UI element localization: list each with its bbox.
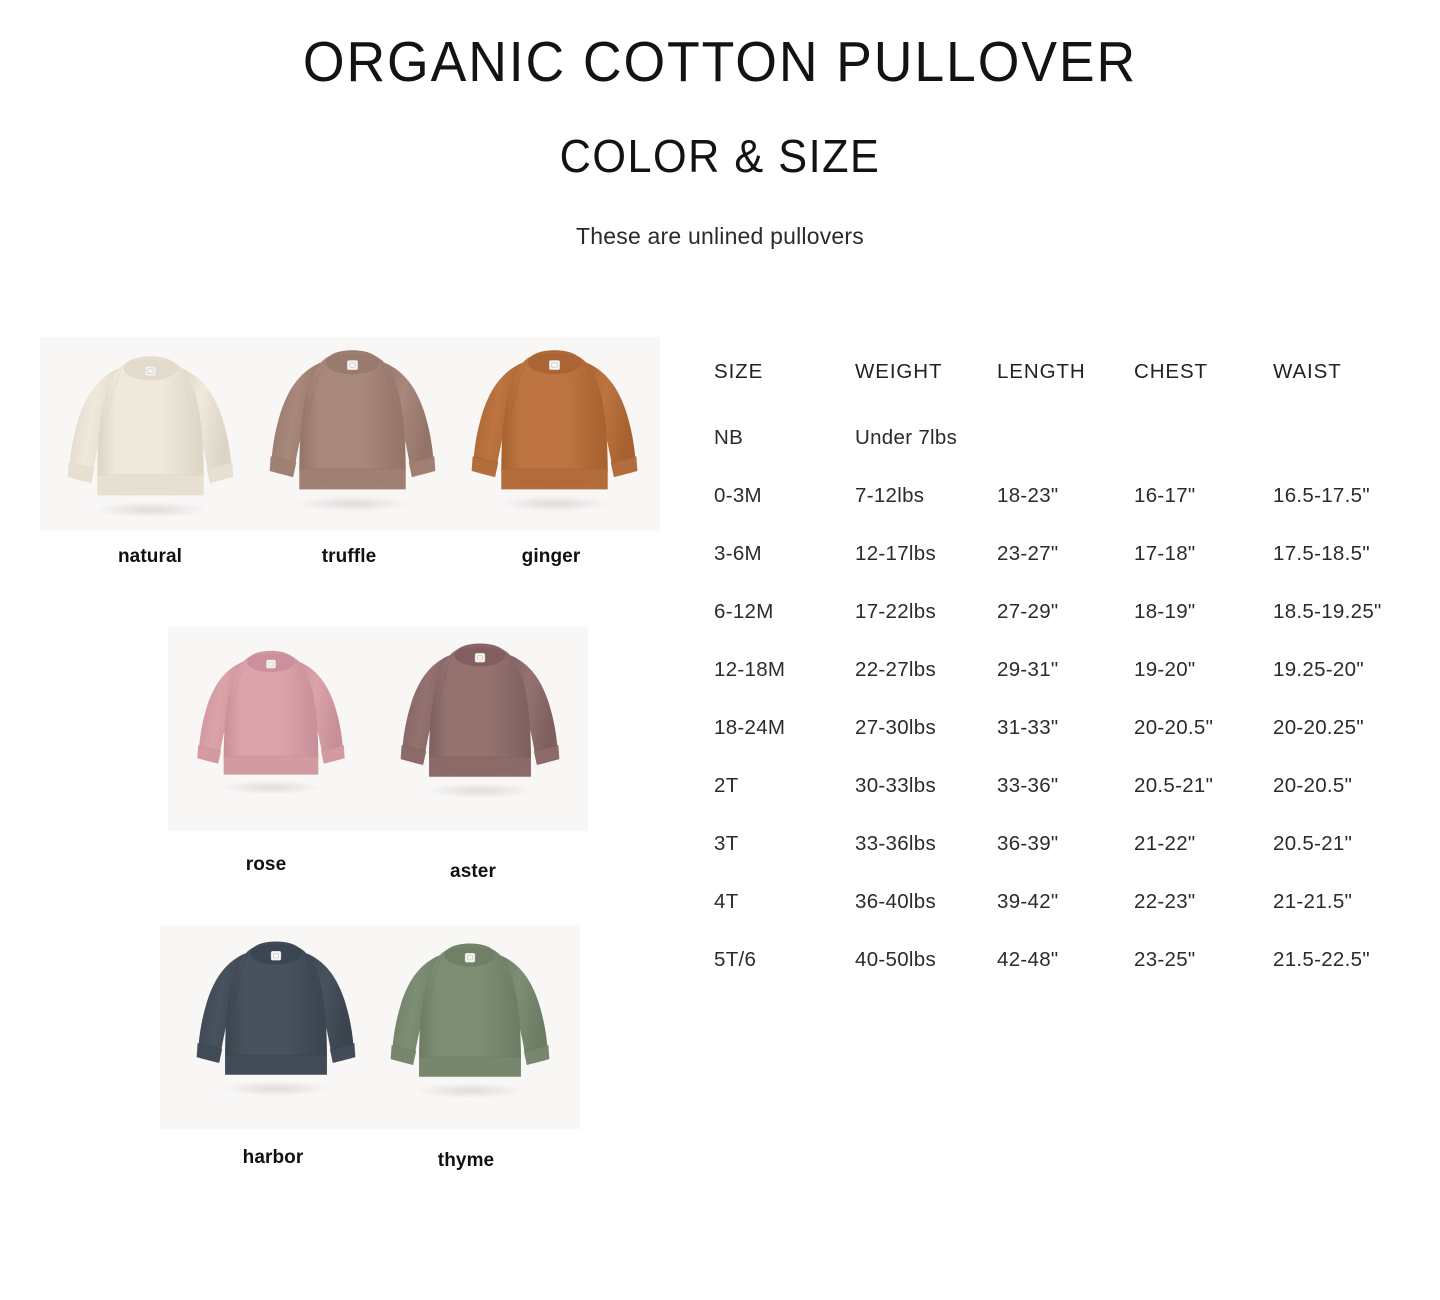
pullover-illustration: [178, 930, 374, 1102]
neck-tag-icon: [549, 360, 559, 369]
color-swatch-thyme[interactable]: [372, 932, 568, 1104]
color-label-natural: natural: [60, 546, 240, 568]
color-swatch-natural[interactable]: [48, 346, 253, 522]
color-label-harbor: harbor: [183, 1147, 363, 1169]
column-header-weight: WEIGHT: [855, 360, 942, 384]
neck-tag-icon: [266, 660, 275, 668]
table-row: 3-6M12-17lbs23-27"17-18"17.5-18.5": [700, 542, 1420, 600]
table-cell: 21-21.5": [1273, 890, 1352, 914]
table-cell: 19-20": [1134, 658, 1196, 682]
table-row: NBUnder 7lbs: [700, 426, 1420, 484]
color-swatch-aster[interactable]: [382, 632, 578, 804]
table-cell: 33-36lbs: [855, 832, 936, 856]
table-cell: 4T: [714, 890, 739, 914]
column-header-size: SIZE: [714, 360, 763, 384]
table-cell: 12-18M: [714, 658, 785, 682]
color-label-aster: aster: [383, 861, 563, 883]
table-cell: 17-18": [1134, 542, 1196, 566]
table-cell: 33-36": [997, 774, 1059, 798]
table-row: 18-24M27-30lbs31-33"20-20.5"20-20.25": [700, 716, 1420, 774]
color-label-thyme: thyme: [376, 1150, 556, 1172]
table-cell: 3-6M: [714, 542, 762, 566]
table-cell: 17-22lbs: [855, 600, 936, 624]
table-cell: 16-17": [1134, 484, 1196, 508]
table-cell: 12-17lbs: [855, 542, 936, 566]
column-header-length: LENGTH: [997, 360, 1086, 384]
table-cell: 30-33lbs: [855, 774, 936, 798]
table-row: 2T30-33lbs33-36"20.5-21"20-20.5": [700, 774, 1420, 832]
color-swatch-harbor[interactable]: [178, 930, 374, 1102]
table-cell: 36-40lbs: [855, 890, 936, 914]
table-cell: 21.5-22.5": [1273, 948, 1370, 972]
table-cell: 5T/6: [714, 948, 756, 972]
table-cell: 6-12M: [714, 600, 774, 624]
table-cell: 23-25": [1134, 948, 1196, 972]
color-label-rose: rose: [176, 854, 356, 876]
table-cell: 17.5-18.5": [1273, 542, 1370, 566]
table-cell: 2T: [714, 774, 739, 798]
column-header-chest: CHEST: [1134, 360, 1208, 384]
color-gallery: natural: [0, 0, 700, 1300]
table-cell: 18-23": [997, 484, 1059, 508]
table-row: 6-12M17-22lbs27-29"18-19"18.5-19.25": [700, 600, 1420, 658]
table-cell: 7-12lbs: [855, 484, 924, 508]
table-cell: 23-27": [997, 542, 1059, 566]
table-cell: 22-27lbs: [855, 658, 936, 682]
table-cell: Under 7lbs: [855, 426, 957, 450]
table-row: 5T/640-50lbs42-48"23-25"21.5-22.5": [700, 948, 1420, 1006]
table-row: 4T36-40lbs39-42"22-23"21-21.5": [700, 890, 1420, 948]
table-cell: 42-48": [997, 948, 1059, 972]
color-swatch-truffle[interactable]: [250, 340, 455, 516]
neck-tag-icon: [145, 366, 155, 375]
table-cell: 20.5-21": [1134, 774, 1213, 798]
table-cell: 27-30lbs: [855, 716, 936, 740]
color-label-ginger: ginger: [461, 546, 641, 568]
neck-tag-icon: [465, 953, 475, 962]
table-cell: 20-20.5": [1273, 774, 1352, 798]
pullover-illustration: [48, 346, 253, 522]
pullover-illustration: [372, 932, 568, 1104]
pullover-illustration: [180, 640, 362, 800]
table-cell: 22-23": [1134, 890, 1196, 914]
pullover-illustration: [452, 340, 657, 516]
table-cell: 36-39": [997, 832, 1059, 856]
table-row: 12-18M22-27lbs29-31"19-20"19.25-20": [700, 658, 1420, 716]
table-row: 0-3M7-12lbs18-23"16-17"16.5-17.5": [700, 484, 1420, 542]
table-cell: 16.5-17.5": [1273, 484, 1370, 508]
color-swatch-rose[interactable]: [180, 640, 362, 800]
table-cell: 19.25-20": [1273, 658, 1364, 682]
table-header-row: SIZEWEIGHTLENGTHCHESTWAIST: [700, 360, 1420, 426]
table-cell: 39-42": [997, 890, 1059, 914]
table-cell: 20-20.25": [1273, 716, 1364, 740]
pullover-illustration: [382, 632, 578, 804]
table-cell: 27-29": [997, 600, 1059, 624]
color-swatch-ginger[interactable]: [452, 340, 657, 516]
neck-tag-icon: [475, 653, 485, 662]
color-label-truffle: truffle: [259, 546, 439, 568]
table-cell: 40-50lbs: [855, 948, 936, 972]
column-header-waist: WAIST: [1273, 360, 1342, 384]
table-cell: 3T: [714, 832, 739, 856]
table-cell: NB: [714, 426, 743, 450]
table-cell: 31-33": [997, 716, 1059, 740]
table-cell: 0-3M: [714, 484, 762, 508]
table-cell: 20.5-21": [1273, 832, 1352, 856]
table-row: 3T33-36lbs36-39"21-22"20.5-21": [700, 832, 1420, 890]
table-cell: 20-20.5": [1134, 716, 1213, 740]
neck-tag-icon: [347, 360, 357, 369]
table-cell: 29-31": [997, 658, 1059, 682]
product-size-chart: ORGANIC COTTON PULLOVER COLOR & SIZE The…: [0, 0, 1440, 1300]
table-cell: 18-19": [1134, 600, 1196, 624]
table-cell: 18.5-19.25": [1273, 600, 1382, 624]
pullover-illustration: [250, 340, 455, 516]
size-table: SIZEWEIGHTLENGTHCHESTWAISTNBUnder 7lbs0-…: [700, 360, 1420, 1006]
table-cell: 21-22": [1134, 832, 1196, 856]
neck-tag-icon: [271, 951, 281, 960]
table-cell: 18-24M: [714, 716, 785, 740]
